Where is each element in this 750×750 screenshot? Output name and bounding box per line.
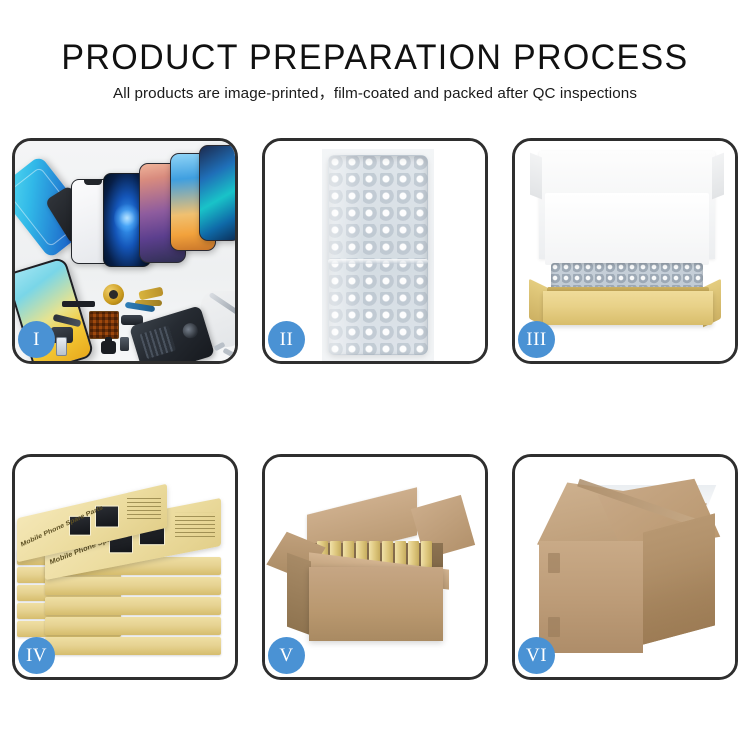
earpiece-mesh-part-icon [62, 301, 95, 307]
retail-box-r5 [45, 637, 221, 655]
bubble-wrap-highlight-icon [328, 155, 362, 355]
camera-module-part-icon [101, 341, 116, 354]
process-step-panel-2: II [262, 138, 488, 364]
step-badge-4: IV [18, 637, 55, 674]
process-step-grid: I II III [12, 138, 738, 680]
mailer-box-front-icon [543, 291, 713, 325]
step-badge-6: VI [518, 637, 555, 674]
page-title: PRODUCT PREPARATION PROCESS [11, 39, 739, 77]
step-badge-2: II [268, 321, 305, 358]
step-badge-1: I [18, 321, 55, 358]
retail-box-r3 [45, 597, 221, 615]
step-badge-5: V [268, 637, 305, 674]
screw-part-2-icon [222, 348, 234, 358]
step-badge-3: III [518, 321, 555, 358]
retail-box-front-spec-lines [175, 513, 215, 537]
sealed-carton-right-face-icon [643, 513, 715, 644]
connector-grid-part-icon [89, 311, 119, 339]
ic-chip-part-icon [120, 337, 129, 351]
retail-box-top-label: Mobile Phone Spare Parts [20, 504, 103, 548]
opened-phone-chassis-icon [129, 305, 215, 361]
carton-tape-lower-icon [548, 617, 560, 637]
retail-box-r2 [45, 577, 221, 595]
product-preparation-infographic: PRODUCT PREPARATION PROCESS All products… [0, 0, 750, 750]
process-step-panel-6: VI [512, 454, 738, 680]
carton-front-face-icon [309, 567, 443, 641]
retail-box-top-window-a [69, 516, 91, 536]
battery-connector-part-icon [56, 337, 67, 356]
carton-left-side-icon [287, 553, 311, 636]
header: PRODUCT PREPARATION PROCESS All products… [0, 0, 750, 103]
retail-box-top-spec-lines [127, 497, 161, 519]
process-step-panel-3: III [512, 138, 738, 364]
flex-cable-gold-part-icon [138, 287, 163, 301]
retail-box-r4 [45, 617, 221, 635]
foam-liner-icon [545, 193, 709, 265]
process-step-panel-4: Mobile Phone Spare Parts Mobile Phone Sp… [12, 454, 238, 680]
carton-tape-upper-icon [548, 553, 560, 573]
retail-box-top-window-b [95, 506, 119, 528]
vibration-motor-part-icon [103, 284, 124, 305]
page-subtitle: All products are image-printed，film-coat… [0, 84, 750, 103]
phone-display-teal-icon [199, 145, 235, 241]
process-step-panel-5: V [262, 454, 488, 680]
process-step-panel-1: I [12, 138, 238, 364]
